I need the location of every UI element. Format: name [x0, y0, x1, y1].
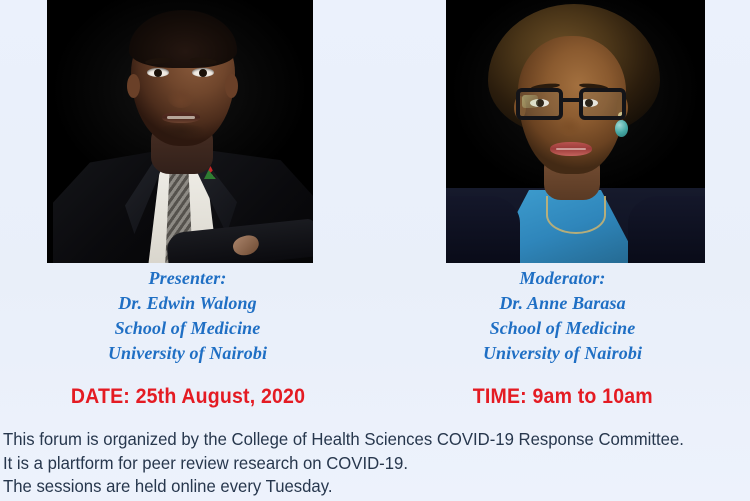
- necklace: [546, 196, 606, 234]
- presenter-credit: Presenter: Dr. Edwin Walong School of Me…: [0, 266, 375, 366]
- date-column: DATE: 25th August, 2020: [0, 385, 375, 409]
- shoulder-left: [446, 196, 520, 263]
- credits-row: Presenter: Dr. Edwin Walong School of Me…: [0, 266, 750, 366]
- moderator-school: School of Medicine: [375, 316, 750, 341]
- event-time: TIME: 9am to 10am: [472, 385, 652, 409]
- chin-shadow: [151, 124, 211, 148]
- moderator-credit: Moderator: Dr. Anne Barasa School of Med…: [375, 266, 750, 366]
- footer-line-1: This forum is organized by the College o…: [3, 428, 714, 452]
- lips: [550, 142, 592, 156]
- lens-right: [579, 88, 626, 120]
- footer-paragraph: This forum is organized by the College o…: [3, 428, 747, 499]
- schedule-row: DATE: 25th August, 2020 TIME: 9am to 10a…: [0, 385, 750, 409]
- footer-line-3: The sessions are held online every Tuesd…: [3, 475, 714, 499]
- presenter-university: University of Nairobi: [0, 341, 375, 366]
- moderator-university: University of Nairobi: [375, 341, 750, 366]
- moderator-name: Dr. Anne Barasa: [375, 291, 750, 316]
- presenter-school: School of Medicine: [0, 316, 375, 341]
- moderator-role-label: Moderator:: [375, 266, 750, 291]
- shoulder-right: [628, 196, 705, 263]
- moderator-photo: [446, 0, 705, 263]
- mouth: [162, 112, 200, 123]
- lens-left: [516, 88, 563, 120]
- event-poster: Presenter: Dr. Edwin Walong School of Me…: [0, 0, 750, 501]
- presenter-photo: [47, 0, 313, 263]
- presenter-photo-inner: [47, 0, 313, 263]
- presenter-role-label: Presenter:: [0, 266, 375, 291]
- nose: [167, 82, 195, 108]
- ear-left: [127, 74, 140, 98]
- pupil-right: [199, 69, 207, 77]
- footer-line-2: It is a plartform for peer review resear…: [3, 452, 714, 476]
- event-date: DATE: 25th August, 2020: [70, 385, 304, 409]
- ear-right: [225, 74, 238, 98]
- moderator-photo-inner: [446, 0, 705, 263]
- nose: [556, 110, 582, 136]
- presenter-name: Dr. Edwin Walong: [0, 291, 375, 316]
- earring-drop-right: [615, 120, 628, 137]
- time-column: TIME: 9am to 10am: [375, 385, 750, 409]
- pupil-left: [154, 69, 162, 77]
